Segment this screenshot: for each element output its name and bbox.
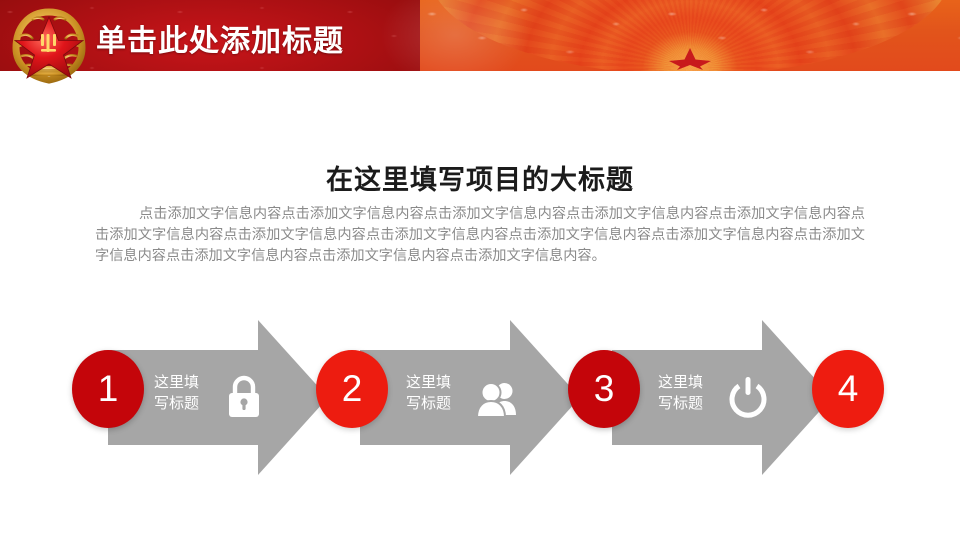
process-step-1-number[interactable]: 1	[72, 350, 144, 428]
arrow-shape	[612, 320, 832, 475]
military-star-wreath-emblem	[8, 4, 90, 88]
process-arrow-3[interactable]: 这里填 写标题	[612, 320, 832, 475]
body-paragraph: 点击添加文字信息内容点击添加文字信息内容点击添加文字信息内容点击添加文字信息内容…	[95, 204, 865, 267]
red-star-icon	[667, 46, 713, 70]
process-step-1-label: 这里填 写标题	[154, 372, 216, 414]
process-step-2-label: 这里填 写标题	[406, 372, 468, 414]
step-number-text: 4	[838, 368, 859, 410]
header-banner: 单击此处添加标题	[0, 0, 960, 71]
header-gloss	[380, 0, 530, 71]
process-flow: 这里填 写标题 这里填 写标题 这里填 写标题	[0, 312, 960, 484]
arrow-shape	[360, 320, 580, 475]
process-step-3-number[interactable]: 3	[568, 350, 640, 428]
header-title: 单击此处添加标题	[96, 16, 344, 60]
users-icon	[474, 374, 518, 420]
step-number-text: 3	[594, 368, 615, 410]
process-step-4-number[interactable]: 4	[812, 350, 884, 428]
page-title: 在这里填写项目的大标题	[0, 158, 960, 197]
step-number-text: 2	[342, 368, 363, 410]
step-number-text: 1	[98, 368, 119, 410]
lock-icon	[222, 374, 266, 420]
process-arrow-2[interactable]: 这里填 写标题	[360, 320, 580, 475]
process-step-3-label: 这里填 写标题	[658, 372, 720, 414]
power-icon	[726, 374, 770, 420]
process-step-2-number[interactable]: 2	[316, 350, 388, 428]
